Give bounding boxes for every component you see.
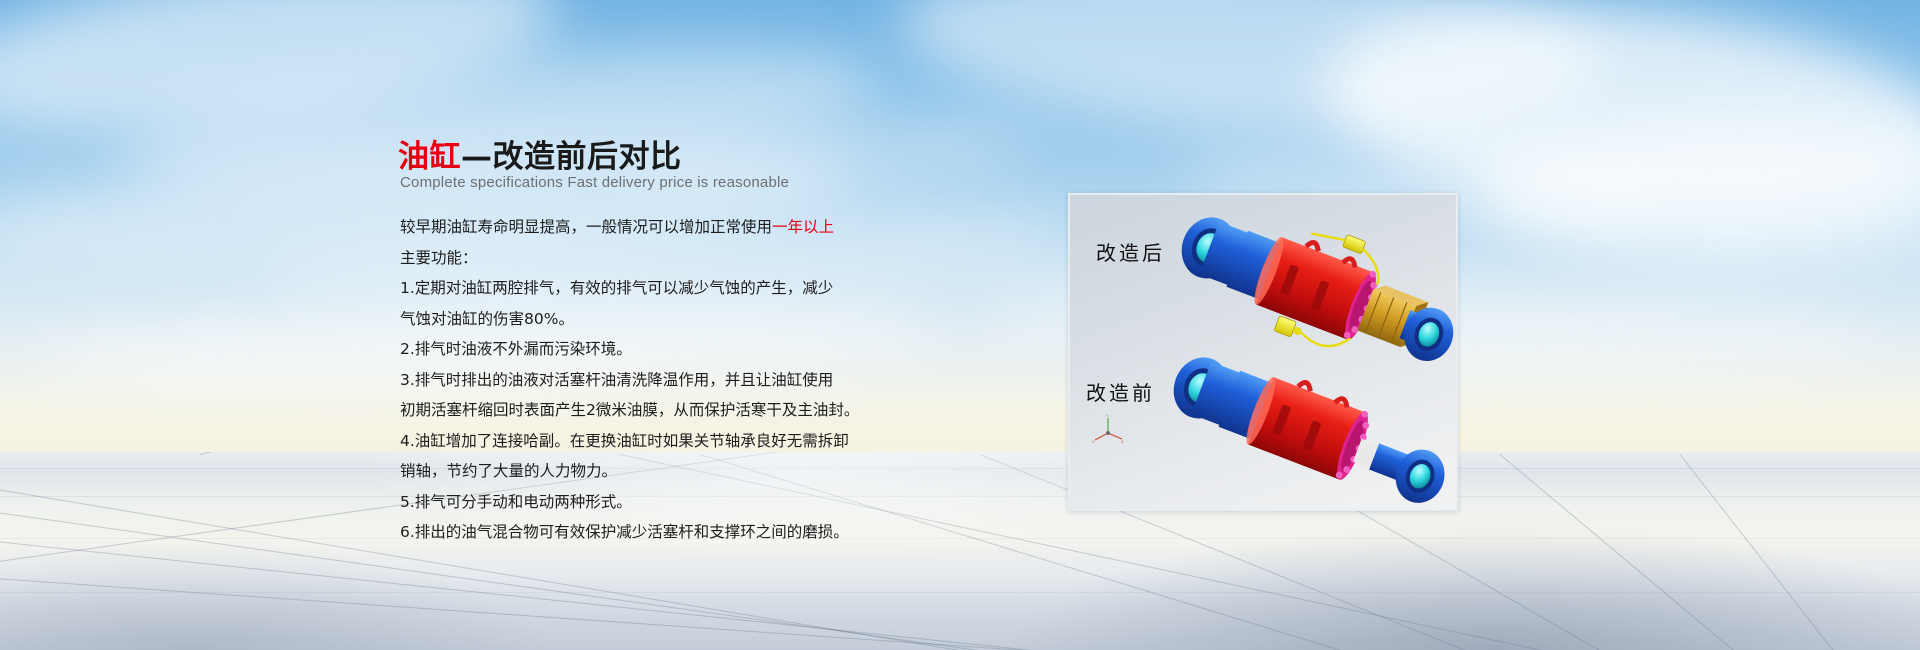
description-line: 2.排气时油液不外漏而污染环境。 [400, 334, 920, 365]
description-line: 气蚀对油缸的伤害80%。 [400, 304, 920, 335]
label-after-modification: 改造后 [1096, 237, 1165, 266]
hydraulic-cylinder-after-modification [1166, 207, 1456, 367]
description-line: 销轴，节约了大量的人力物力。 [400, 456, 920, 487]
description-line: 1.定期对油缸两腔排气，有效的排气可以减少气蚀的产生，减少 [400, 273, 920, 304]
svg-text:Y: Y [1106, 413, 1109, 418]
svg-text:X: X [1092, 439, 1095, 444]
hydraulic-cylinder-before-modification [1158, 347, 1448, 507]
description-line: 主要功能： [400, 243, 920, 274]
feature-description-list: 较早期油缸寿命明显提高，一般情况可以增加正常使用一年以上 主要功能： 1.定期对… [400, 212, 920, 548]
description-line: 3.排气时排出的油液对活塞杆油清洗降温作用，并且让油缸使用 [400, 365, 920, 396]
description-line: 较早期油缸寿命明显提高，一般情况可以增加正常使用一年以上 [400, 212, 920, 243]
coordinate-axes-icon: Y X Z [1092, 413, 1126, 447]
label-before-modification: 改造前 [1086, 377, 1155, 406]
description-highlight: 一年以上 [772, 218, 834, 236]
page-title: 油缸—改造前后对比 [398, 131, 682, 176]
description-line: 初期活塞杆缩回时表面产生2微米油膜，从而保护活寒干及主油封。 [400, 395, 920, 426]
banner-stage: 油缸—改造前后对比 Complete specifications Fast d… [0, 0, 1920, 650]
page-title-highlight: 油缸 [398, 139, 461, 175]
page-subtitle: Complete specifications Fast delivery pr… [400, 174, 789, 191]
page-title-rest: —改造前后对比 [461, 139, 682, 175]
product-comparison-panel[interactable]: 改造后 改造前 Y X Z [1068, 193, 1458, 511]
banner-content: 油缸—改造前后对比 Complete specifications Fast d… [0, 0, 1920, 650]
svg-text:Z: Z [1121, 439, 1124, 444]
description-line: 5.排气可分手动和电动两种形式。 [400, 487, 920, 518]
description-line: 4.油缸增加了连接哈副。在更换油缸时如果关节轴承良好无需拆卸 [400, 426, 920, 457]
description-line: 6.排出的油气混合物可有效保护减少活塞杆和支撑环之间的磨损。 [400, 517, 920, 548]
